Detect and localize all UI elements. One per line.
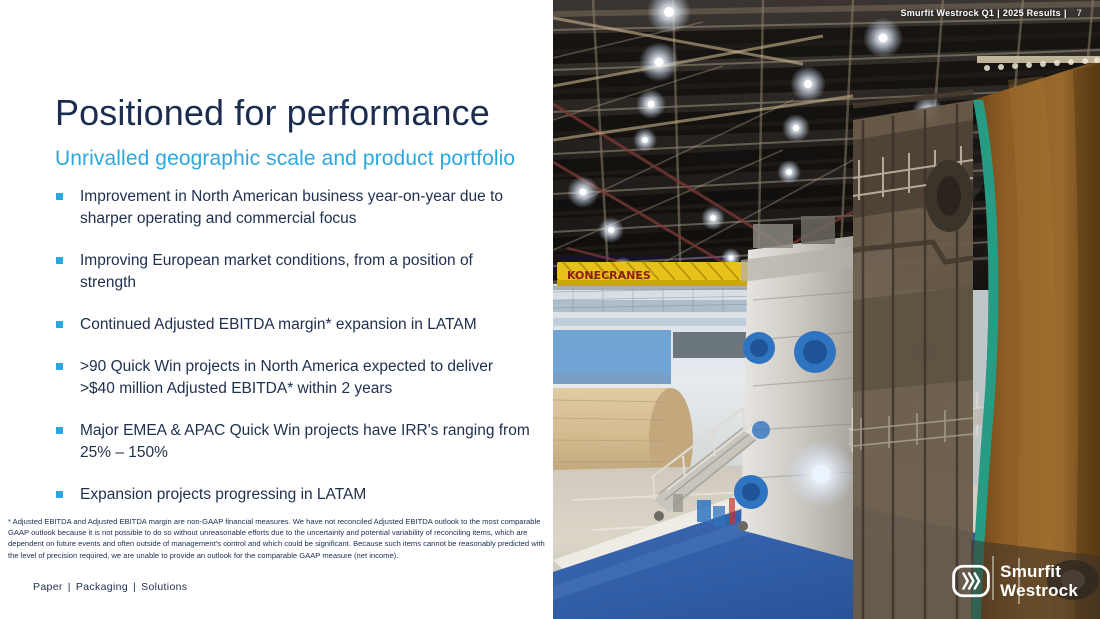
bullet-square-icon — [56, 427, 63, 434]
bullet-square-icon — [56, 257, 63, 264]
logo-mark-icon — [952, 564, 990, 598]
bullet-square-icon — [56, 321, 63, 328]
logo-line-1: Smurfit — [1000, 563, 1078, 580]
list-item-text: Improving European market conditions, fr… — [80, 252, 473, 291]
tagline: Paper|Packaging|Solutions — [33, 581, 187, 593]
logo-line-2: Westrock — [1000, 582, 1078, 599]
list-item-text: Continued Adjusted EBITDA margin* expans… — [80, 316, 477, 333]
header-company: Smurfit Westrock Q1 — [901, 8, 995, 18]
list-item-text: Expansion projects progressing in LATAM — [80, 486, 366, 503]
tagline-paper: Paper — [33, 581, 63, 593]
photo-illustration: KONECRANES — [553, 0, 1100, 619]
header-separator: | — [994, 8, 1003, 18]
list-item: Major EMEA & APAC Quick Win projects hav… — [52, 420, 532, 464]
content-pane: Positioned for performance Unrivalled ge… — [0, 0, 556, 619]
page-subtitle: Unrivalled geographic scale and product … — [55, 147, 515, 171]
svg-text:KONECRANES: KONECRANES — [567, 269, 651, 282]
list-item: Continued Adjusted EBITDA margin* expans… — [52, 314, 532, 336]
logo-wordmark: Smurfit Westrock — [1000, 563, 1078, 599]
bullet-square-icon — [56, 363, 63, 370]
bullet-square-icon — [56, 491, 63, 498]
tagline-packaging: Packaging — [76, 581, 128, 593]
list-item-text: >90 Quick Win projects in North America … — [80, 358, 493, 397]
list-item-text: Major EMEA & APAC Quick Win projects hav… — [80, 422, 530, 461]
bullet-list: Improvement in North American business y… — [52, 186, 532, 506]
smurfit-westrock-logo: Smurfit Westrock — [952, 563, 1078, 599]
list-item: >90 Quick Win projects in North America … — [52, 356, 532, 400]
tagline-separator: | — [63, 581, 76, 593]
list-item: Improvement in North American business y… — [52, 186, 532, 230]
page-number: 7 — [1070, 8, 1082, 18]
header-report: 2025 Results — [1003, 8, 1061, 18]
list-item: Improving European market conditions, fr… — [52, 250, 532, 294]
list-item-text: Improvement in North American business y… — [80, 188, 503, 227]
slide-header: Smurfit Westrock Q1|2025 Results|7 — [901, 8, 1082, 18]
header-separator: | — [1061, 8, 1070, 18]
bullet-square-icon — [56, 193, 63, 200]
tagline-separator: | — [128, 581, 141, 593]
page-title: Positioned for performance — [55, 92, 490, 134]
presentation-slide: Positioned for performance Unrivalled ge… — [0, 0, 1100, 619]
tagline-solutions: Solutions — [141, 581, 187, 593]
list-item: Expansion projects progressing in LATAM — [52, 484, 532, 506]
footnote-disclaimer: * Adjusted EBITDA and Adjusted EBITDA ma… — [8, 516, 548, 561]
mill-photograph: KONECRANES — [553, 0, 1100, 619]
